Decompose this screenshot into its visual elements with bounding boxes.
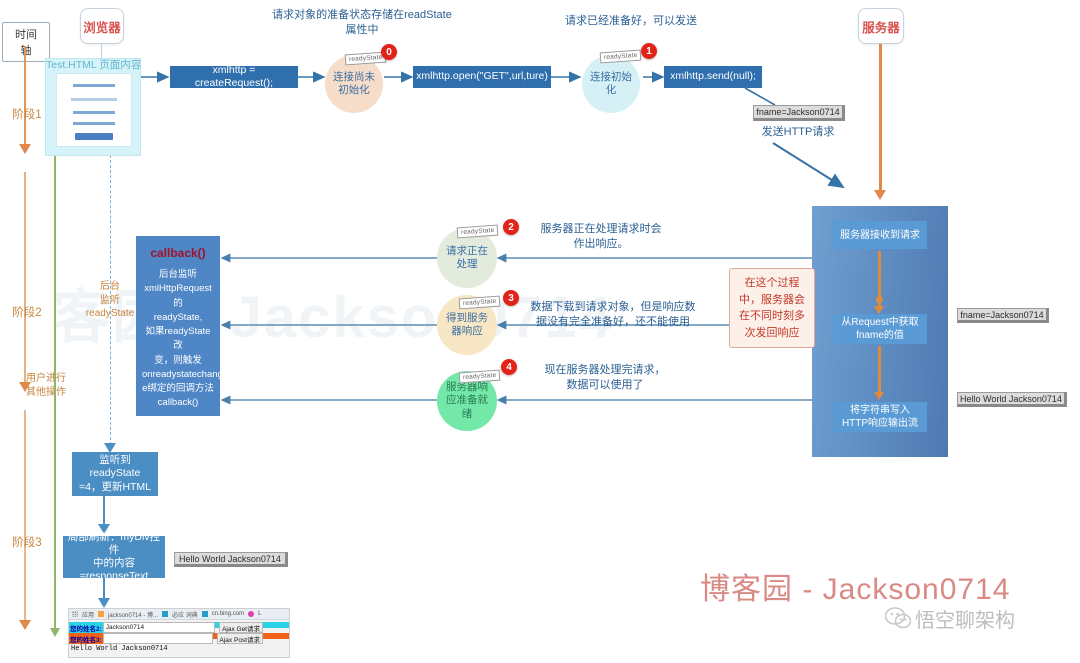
stage-label-1: 阶段1 — [5, 106, 49, 122]
timeline-rule-stage2 — [24, 172, 26, 384]
bookmark-favicon-orange — [98, 611, 104, 617]
readystate-tag-2: readyState — [457, 225, 499, 239]
timeline-arrow-stage1 — [19, 144, 31, 154]
bookmark-favicon-bing2 — [202, 611, 208, 617]
name2-input[interactable]: Jackson0714 — [103, 622, 215, 633]
bookmark-bing-dict[interactable]: 必应 词典 — [172, 610, 198, 619]
callback-box: callback() 后台监听 xmlHttpRequest的 readySta… — [136, 236, 220, 416]
page-line — [71, 98, 117, 101]
row-label-name3: 您的姓名3: — [69, 633, 103, 644]
stage-label-2: 阶段2 — [5, 304, 49, 320]
server-process-box: 服务器接收到请求 从Request中获取 fname的值 将字符串写入 HTTP… — [812, 206, 948, 457]
readystate-note-2: 服务器正在处理请求时会 作出响应。 — [521, 222, 681, 252]
bookmark-apps[interactable]: 应用 — [82, 610, 94, 619]
stage3-arrow-2 — [98, 598, 110, 608]
bookmark-favicon-pink — [248, 611, 254, 617]
browser-lifeline — [54, 155, 56, 630]
server-step-3: 将字符串写入 HTTP响应输出流 — [833, 402, 927, 432]
server-arrowhead-1 — [874, 306, 884, 314]
stage-label-3: 阶段3 — [5, 534, 49, 550]
readystate-tag-4: readyState — [459, 370, 501, 384]
readystate-note-3: 数据下载到请求对象，但是响应数 据没有完全准备好，还不能使用 — [518, 300, 708, 330]
page-content-card — [45, 58, 141, 156]
listen-readystate-box: 监听到readyState =4，更新HTML — [72, 452, 158, 496]
callback-box-body: 后台监听 xmlHttpRequest的 readyState, 如果ready… — [142, 269, 223, 408]
readystate-badge-1: 1 — [641, 43, 657, 59]
server-arrowhead-2 — [874, 392, 884, 400]
readystate-circle-3-label: 得到服务 器响应 — [446, 312, 488, 338]
watermark-blog: 博客园 - Jackson0714 — [700, 564, 1010, 608]
readystate-circle-4-label: 服务器响 应准备就 绪 — [446, 381, 488, 420]
browser-mock: 应用 jackson0714 - 博... 必应 词典 cn.bing.com … — [68, 608, 290, 658]
name3-input[interactable] — [103, 633, 213, 644]
browser-mock-row: 您的姓名3: Ajax Post请求 — [69, 633, 289, 644]
timeline-rule-stage1 — [24, 46, 26, 146]
server-fname-value-box: fname=Jackson0714 — [957, 308, 1049, 323]
server-hello-value-box: Hello World Jackson0714 — [957, 392, 1067, 407]
stage3-connector-2 — [103, 578, 105, 600]
fname-param-box: fname=Jackson0714 — [753, 105, 845, 121]
watermark-wechat-name: 悟空聊架构 — [915, 604, 1015, 633]
diagram-canvas: 客园 - Jackson0714 时间轴 阶 — [0, 0, 1080, 663]
readystate-note-4: 现在服务器处理完请求， 数据可以使用了 — [525, 363, 685, 393]
page-submit-button[interactable] — [75, 133, 113, 140]
server-lifeline-arrow — [874, 190, 886, 200]
page-line — [73, 111, 115, 114]
code-open-request: xmlhttp.open("GET",url,ture) — [413, 66, 551, 88]
timeline-title: 时间轴 — [2, 22, 50, 62]
ajax-post-button[interactable]: Ajax Post请求 — [217, 633, 263, 644]
readystate-badge-3: 3 — [503, 290, 519, 306]
bookmark-favicon-bing1 — [162, 611, 168, 617]
page-line — [73, 84, 115, 87]
page-content-inner — [56, 73, 132, 147]
wechat-icon — [885, 607, 911, 634]
bookmark-cnbing[interactable]: cn.bing.com — [212, 611, 244, 617]
row-label-name2: 您的姓名2: — [69, 622, 103, 633]
timeline-rule-stage3 — [24, 410, 26, 622]
readystate-circle-0-label: 连接尚未 初始化 — [333, 71, 375, 97]
browser-lifeline-arrow — [50, 628, 60, 637]
browser-chip: 浏览器 — [80, 8, 124, 44]
code-create-request: xmlhttp = createRequest(); — [170, 66, 298, 88]
server-arrow-2 — [878, 346, 881, 394]
server-step-1: 服务器接收到请求 — [833, 221, 927, 249]
bookmark-l[interactable]: L — [258, 611, 261, 617]
readystate-circle-1-label: 连接初始 化 — [590, 71, 632, 97]
readystate-circle-1: 连接初始 化 — [582, 55, 640, 113]
row-accent-1b — [263, 622, 289, 628]
stage3-hello-value-box: Hello World Jackson0714 — [174, 552, 288, 567]
server-chip: 服务器 — [858, 8, 904, 44]
bookmark-jackson[interactable]: jackson0714 - 博... — [108, 610, 158, 619]
readystate-circle-2-label: 请求正在 处理 — [446, 245, 488, 271]
callback-box-title: callback() — [142, 244, 214, 262]
readystate-tag-1: readyState — [600, 50, 642, 64]
code-send-request: xmlhttp.send(null); — [664, 66, 762, 88]
browser-mock-row: 您的姓名2: Jackson0714 Ajax Get请求 — [69, 622, 289, 633]
partial-refresh-box: 局部刷新：myDiv控件 中的内容=responseText — [63, 536, 165, 578]
page-line — [73, 122, 115, 125]
apps-grid-icon[interactable] — [72, 611, 78, 617]
timeline-arrow-stage3 — [19, 620, 31, 630]
server-arrow-dot-1 — [876, 296, 883, 303]
ajax-get-button[interactable]: Ajax Get请求 — [219, 622, 263, 633]
browser-mock-output: Hello World Jackson0714 — [69, 644, 289, 654]
browser-mock-bookmark-bar[interactable]: 应用 jackson0714 - 博... 必应 词典 cn.bing.com … — [69, 609, 289, 620]
readystate-badge-2: 2 — [503, 219, 519, 235]
server-multi-response-callout: 在这个过程 中，服务器会 在不同时刻多 次发回响应 — [729, 268, 815, 348]
row-accent-2b — [263, 633, 289, 639]
send-http-request-label: 发送HTTP请求 — [748, 125, 848, 140]
server-step-2: 从Request中获取 fname的值 — [833, 314, 927, 344]
server-lifeline — [879, 44, 882, 197]
note-request-ready: 请求已经准备好，可以发送 — [548, 14, 714, 29]
stage3-connector-1 — [103, 496, 105, 526]
readystate-badge-0: 0 — [381, 44, 397, 60]
readystate-badge-4: 4 — [501, 359, 517, 375]
note-readystate-property: 请求对象的准备状态存储在readState 属性中 — [272, 8, 452, 38]
page-card-label: Test.HTML 页面内容 — [46, 57, 141, 72]
